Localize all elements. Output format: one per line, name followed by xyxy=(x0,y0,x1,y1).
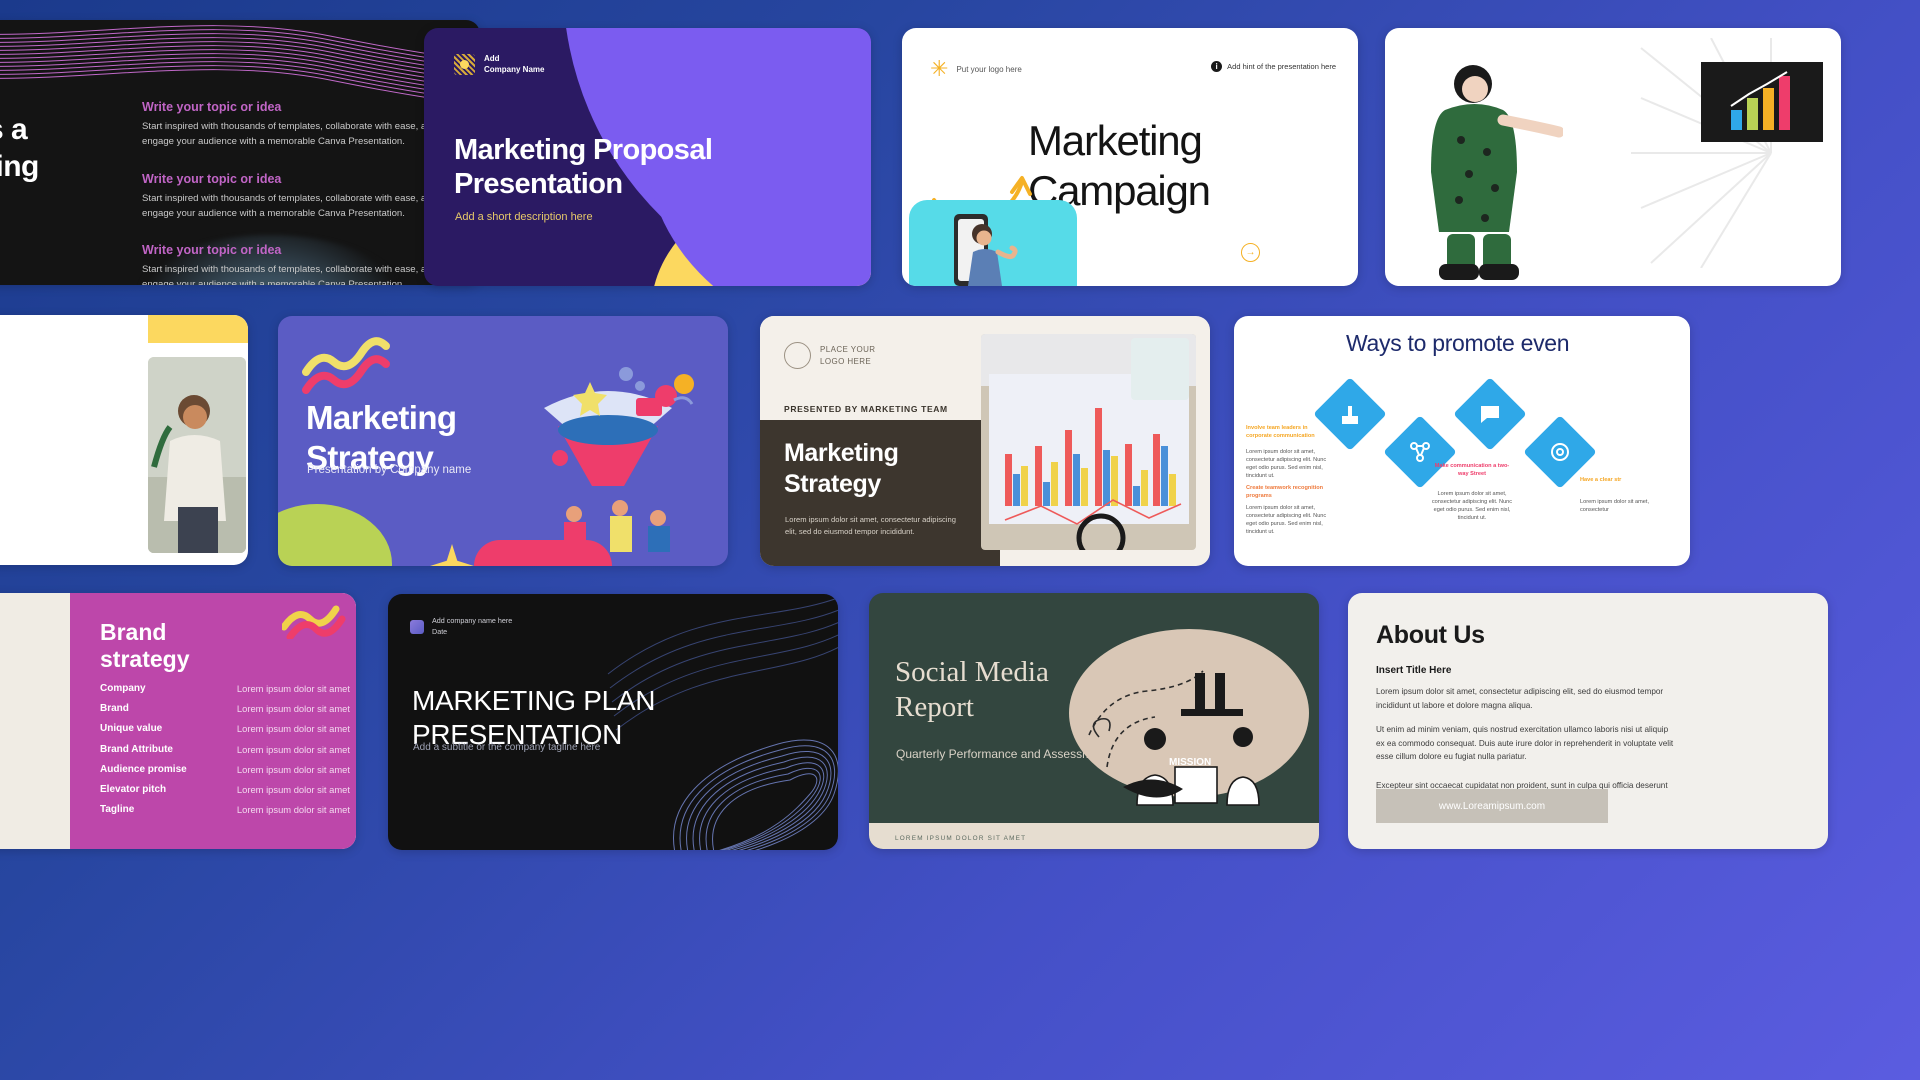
logo-text: PLACE YOURLOGO HERE xyxy=(820,344,875,367)
slide-paragraph: Lorem ipsum dolor sit amet, consectetur … xyxy=(1376,685,1676,712)
logo-mark-icon xyxy=(410,620,424,634)
person-photo xyxy=(148,357,246,553)
table-row: CompanyLorem ipsum dolor sit amet xyxy=(100,683,350,694)
slide-subheading: Insert Title Here xyxy=(1376,665,1451,676)
table-row: Unique valueLorem ipsum dolor sit amet xyxy=(100,723,350,734)
company-logo: AddCompany Name xyxy=(454,54,544,76)
topic-heading: Write your topic or idea xyxy=(142,172,452,186)
slide-card-trends-white[interactable]: nds do eiusmod tempor incididunt ut quis… xyxy=(0,315,248,565)
slide-card-ways-to-promote-event[interactable]: Ways to promote even Involve team leader… xyxy=(1234,316,1690,566)
item-body: Lorem ipsum dolor sit amet, consectetur … xyxy=(1246,504,1330,536)
podium-icon xyxy=(1338,402,1362,426)
hint-text: Add hint of the presentation here xyxy=(1227,62,1336,71)
slide-card-marketing-plan-dark[interactable]: What is a marketing plan? Write your top… xyxy=(0,20,480,285)
website-text: www.Loreamipsum.com xyxy=(1439,801,1545,812)
slide-card-marketing-plan-presentation[interactable]: Add company name hereDate MARKETING PLAN… xyxy=(388,594,838,850)
topic-body: Start inspired with thousands of templat… xyxy=(142,263,452,285)
item-body: Lorem ipsum dolor sit amet, consectetur xyxy=(1580,498,1664,514)
speaker-illustration xyxy=(1403,58,1563,286)
website-bar: www.Loreamipsum.com xyxy=(1376,789,1608,823)
table-row: Brand AttributeLorem ipsum dolor sit ame… xyxy=(100,744,350,755)
target-icon xyxy=(1548,440,1572,464)
yellow-star-shape xyxy=(430,544,474,566)
slide-card-brand-strategy[interactable]: ND Brandstrategy CompanyLorem ipsum dolo… xyxy=(0,593,356,849)
topic-body: Start inspired with thousands of templat… xyxy=(142,120,452,150)
person-photo xyxy=(940,208,1030,286)
table-row: BrandLorem ipsum dolor sit amet xyxy=(100,703,350,714)
yellow-accent xyxy=(148,315,248,343)
chat-icon xyxy=(1478,402,1502,426)
logo-text: Put your logo here xyxy=(956,65,1021,74)
network-icon xyxy=(1408,440,1432,464)
slide-card-about-us[interactable]: About Us Insert Title Here Lorem ipsum d… xyxy=(1348,593,1828,849)
item-body: Lorem ipsum dolor sit amet, consectetur … xyxy=(1430,490,1514,522)
wave-decoration xyxy=(0,20,480,98)
slide-title: MarketingStrategy xyxy=(784,438,898,499)
slide-title: What is a marketing plan? xyxy=(0,112,110,222)
footer-text: LOREM IPSUM DOLOR SIT AMET xyxy=(895,835,1026,842)
funnel-illustration xyxy=(498,338,718,558)
slide-title: Social MediaReport xyxy=(895,655,1049,725)
table-row: TaglineLorem ipsum dolor sit amet xyxy=(100,804,350,815)
squiggle-decoration xyxy=(282,599,352,639)
table-row: Elevator pitchLorem ipsum dolor sit amet xyxy=(100,784,350,795)
topic-heading: Write your topic or idea xyxy=(142,243,452,257)
logo-placeholder: PLACE YOURLOGO HERE xyxy=(784,342,875,369)
presentation-board xyxy=(1701,62,1823,142)
topic-heading: Write your topic or idea xyxy=(142,100,452,114)
notebook-photo: ND xyxy=(0,593,70,849)
slide-card-speaker-illustration[interactable] xyxy=(1385,28,1841,286)
emblem-icon xyxy=(784,342,811,369)
logo-mark-icon xyxy=(454,54,475,75)
team-illustration: MISSION xyxy=(1063,617,1315,813)
slide-paragraph: Ut enim ad minim veniam, quis nostrud ex… xyxy=(1376,723,1676,764)
slide-body: Lorem ipsum dolor sit amet, consectetur … xyxy=(785,514,965,538)
logo-text: Add company name hereDate xyxy=(432,616,512,638)
hint-note: i Add hint of the presentation here xyxy=(1211,61,1336,72)
squiggle-decoration xyxy=(302,336,410,400)
item-heading: Have a clear str xyxy=(1580,476,1664,484)
slide-card-marketing-strategy-dark[interactable]: PLACE YOURLOGO HERE PRESENTED BY MARKETI… xyxy=(760,316,1210,566)
brand-attribute-table: CompanyLorem ipsum dolor sit amet BrandL… xyxy=(100,683,350,824)
chart-photo xyxy=(981,334,1196,550)
slide-card-social-media-report[interactable]: Social MediaReport Quarterly Performance… xyxy=(869,593,1319,849)
slide-subtitle: Presentation by Company name xyxy=(307,464,471,476)
item-heading: Involve team leaders in corporate commun… xyxy=(1246,424,1330,440)
slide-title: Brandstrategy xyxy=(100,619,189,673)
item-body: Lorem ipsum dolor sit amet, consectetur … xyxy=(1246,448,1330,480)
slide-title: Marketing ProposalPresentation xyxy=(454,133,764,201)
info-icon: i xyxy=(1211,61,1222,72)
item-heading: Create teamwork recognition programs xyxy=(1246,484,1330,500)
slide-subtitle: Add a short description here xyxy=(455,211,593,223)
topic-list: Write your topic or idea Start inspired … xyxy=(142,100,452,285)
green-circle-shape xyxy=(278,504,392,566)
topic-body: Start inspired with thousands of templat… xyxy=(142,192,452,222)
asterisk-icon: ✳ xyxy=(930,58,948,80)
slide-title: Ways to promote even xyxy=(1346,330,1569,357)
company-logo: Add company name hereDate xyxy=(410,616,512,638)
item-heading: Make communication a two-way Street xyxy=(1430,462,1514,478)
slide-card-marketing-campaign[interactable]: ✳ Put your logo here i Add hint of the p… xyxy=(902,28,1358,286)
logo-text: AddCompany Name xyxy=(484,54,544,76)
slide-card-marketing-proposal[interactable]: AddCompany Name Marketing ProposalPresen… xyxy=(424,28,871,286)
slide-title: MarketingCampaign xyxy=(1028,116,1348,215)
mission-label: MISSION xyxy=(1169,757,1211,768)
slide-card-marketing-strategy-periwinkle[interactable]: MarketingStrategy Presentation by Compan… xyxy=(278,316,728,566)
slide-title: About Us xyxy=(1376,621,1485,650)
table-row: Audience promiseLorem ipsum dolor sit am… xyxy=(100,764,350,775)
logo-placeholder: ✳ Put your logo here xyxy=(930,58,1022,80)
presented-by-label: PRESENTED BY MARKETING TEAM xyxy=(784,404,948,414)
next-arrow-icon[interactable]: → xyxy=(1241,243,1260,262)
slide-subtitle: Add a subtitle or the company tagline he… xyxy=(413,742,600,753)
